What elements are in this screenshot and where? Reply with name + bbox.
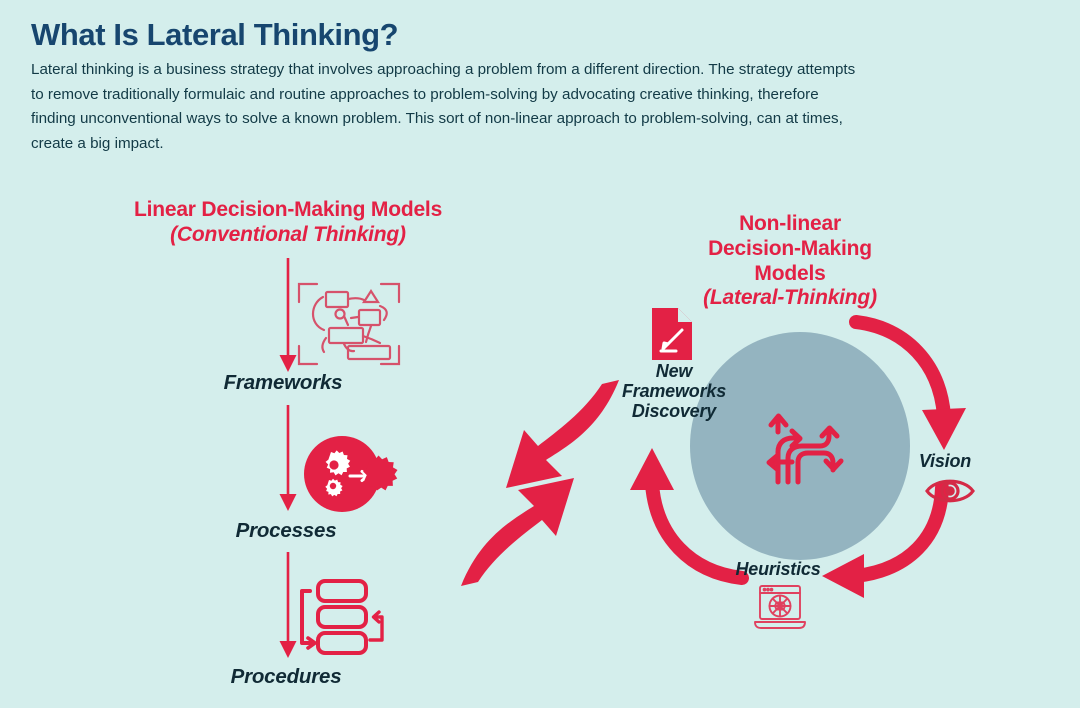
arc-arrow-top-right (848, 308, 968, 468)
compass-browser-icon (752, 584, 808, 632)
document-pencil-icon (650, 306, 694, 362)
node-label-new-frameworks-discovery: New Frameworks Discovery (602, 362, 746, 421)
node-label-vision: Vision (890, 452, 1000, 472)
left-heading-main: Linear Decision-Making Models (134, 198, 442, 221)
node-label-heuristics: Heuristics (718, 560, 838, 580)
framework-sketch-icon (296, 280, 402, 368)
left-heading-sub: (Conventional Thinking) (108, 223, 468, 248)
infographic-canvas: What Is Lateral Thinking? Lateral thinki… (0, 0, 1080, 708)
flowchart-stack-icon (296, 578, 388, 660)
right-column-heading: Non-linear Decision-Making Models (Later… (645, 212, 935, 311)
down-arrow-2 (276, 405, 300, 513)
eye-icon (924, 474, 976, 508)
step-label-processes: Processes (186, 520, 386, 543)
right-heading-line3: Models (645, 262, 935, 287)
step-label-procedures: Procedures (186, 666, 386, 689)
right-heading-line1: Non-linear (645, 212, 935, 237)
gears-circle-icon (302, 432, 398, 516)
right-heading-line2: Decision-Making (645, 237, 935, 262)
header-block: What Is Lateral Thinking? Lateral thinki… (31, 18, 891, 157)
page-title: What Is Lateral Thinking? (31, 18, 891, 52)
step-label-frameworks: Frameworks (183, 372, 383, 395)
intro-paragraph: Lateral thinking is a business strategy … (31, 58, 861, 157)
node-label-line-1: New (602, 362, 746, 382)
node-label-line-2: Frameworks (602, 382, 746, 402)
node-label-line-3: Discovery (602, 402, 746, 422)
left-column-heading: Linear Decision-Making Models (Conventio… (108, 198, 468, 248)
